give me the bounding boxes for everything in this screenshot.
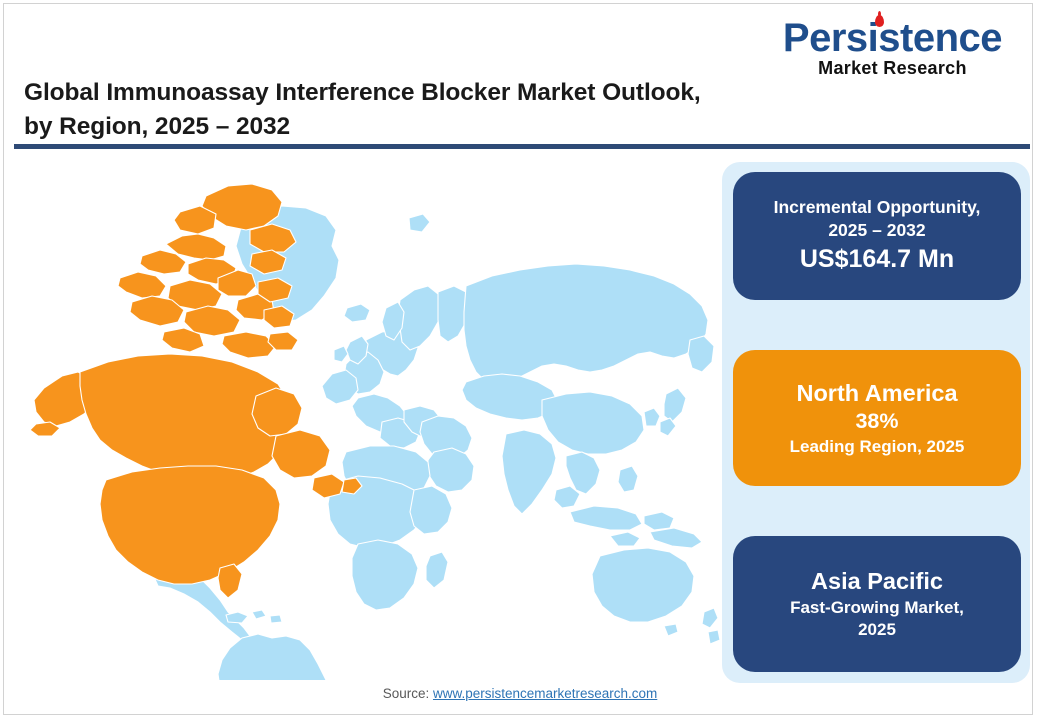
incremental-opportunity-label-line2: 2025 – 2032 <box>828 219 925 242</box>
source-line: Source: www.persistencemarketresearch.co… <box>0 686 1040 701</box>
title-divider <box>14 144 1030 149</box>
world-map-svg <box>14 160 720 680</box>
incremental-opportunity-value: US$164.7 Mn <box>800 243 954 276</box>
card-leading-region[interactable]: North America 38% Leading Region, 2025 <box>733 350 1021 486</box>
stats-panel: Incremental Opportunity, 2025 – 2032 US$… <box>722 162 1030 683</box>
fast-growing-caption-line2: 2025 <box>858 619 896 641</box>
page-title-line-1: Global Immunoassay Interference Blocker … <box>24 76 814 110</box>
source-link[interactable]: www.persistencemarketresearch.com <box>433 686 657 701</box>
source-label: Source: <box>383 686 433 701</box>
world-map <box>14 160 720 680</box>
infographic-page: Persistence Market Research Global Immun… <box>0 0 1040 720</box>
page-title: Global Immunoassay Interference Blocker … <box>24 76 814 144</box>
incremental-opportunity-label-line1: Incremental Opportunity, <box>774 196 981 219</box>
leading-region-share: 38% <box>855 408 898 436</box>
logo-tagline-text: Market Research <box>783 59 1002 77</box>
company-logo: Persistence Market Research <box>783 18 1002 77</box>
page-title-line-2: by Region, 2025 – 2032 <box>24 110 814 144</box>
leading-region-caption: Leading Region, 2025 <box>790 436 965 458</box>
card-fast-growing-market[interactable]: Asia Pacific Fast-Growing Market, 2025 <box>733 536 1021 672</box>
logo-red-dot-icon <box>875 15 884 27</box>
card-incremental-opportunity[interactable]: Incremental Opportunity, 2025 – 2032 US$… <box>733 172 1021 300</box>
fast-growing-region-name: Asia Pacific <box>811 566 943 597</box>
leading-region-name: North America <box>796 378 957 409</box>
logo-brand-text: Persistence <box>783 18 1002 58</box>
fast-growing-caption-line1: Fast-Growing Market, <box>790 597 964 619</box>
